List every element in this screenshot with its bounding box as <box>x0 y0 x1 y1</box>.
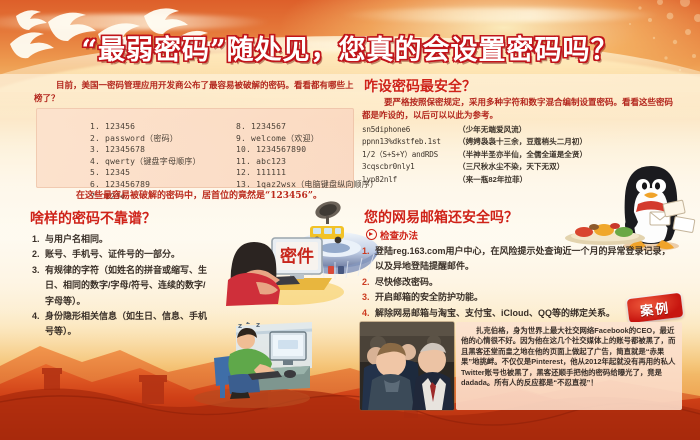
bad-password-heading: 啥样的密码不靠谱？ <box>30 208 156 228</box>
list-item: 2. 账号、手机号、证件号的一部分。 <box>32 247 208 262</box>
table-row: ppnn13%dkstfeb.1st （娉娉袅袅十三余，豆蔻梢头二月初） <box>362 136 662 148</box>
list-item-number: 3. <box>362 290 375 305</box>
weak-password-item: 11. abc123 <box>236 156 378 168</box>
list-item-number: 3. <box>32 263 45 309</box>
list-item: 2. 尽快修改密码。 <box>362 275 674 290</box>
case-study-photo <box>360 322 454 410</box>
case-study-badge-label: 案例 <box>639 297 671 320</box>
list-item-number: 1. <box>362 244 375 275</box>
example-meaning: （少年无端爱风流） <box>458 124 662 136</box>
case-study-block: 扎克伯格，身为世界上最大社交网络Facebook的CEO，最近他的心情很不好。因… <box>360 322 682 410</box>
example-password: 1/2（S+S+Y）andRDS <box>362 149 458 161</box>
example-password: ppnn13%dkstfeb.1st <box>362 136 458 148</box>
weak-password-item: 9. welcome（欢迎） <box>236 133 378 145</box>
list-item-text: 尽快修改密码。 <box>375 275 674 290</box>
woman-at-computer-illustration: 密件 <box>212 218 352 310</box>
weak-password-column-right: 8. 1234567 9. welcome（欢迎） 10. 1234567890… <box>196 121 378 191</box>
safe-password-intro: 要严格按照保密规定，采用多种字符和数字混合编制设置密码。看看这些密码都是咋设的，… <box>362 96 674 122</box>
list-item: 1. 登陆reg.163.com用户中心，在风险提示处查询近一个月的异常登录记录… <box>362 244 674 275</box>
weak-password-item: 10. 1234567890 <box>236 144 378 156</box>
svg-text:z: z <box>256 322 260 329</box>
weak-password-item: 12. 111111 <box>236 167 378 179</box>
example-password: lyp82nlf <box>362 174 458 186</box>
example-password: 3cqscbr0nly1 <box>362 161 458 173</box>
list-item-text: 与用户名相同。 <box>45 232 208 247</box>
zuckerberg-photo-illustration <box>360 322 454 410</box>
envelope-screen-label: 密件 <box>280 246 314 267</box>
play-arrow-icon <box>366 229 377 240</box>
list-item-text: 身份隐形相关信息（如生日、信息、手机号等）。 <box>45 309 208 340</box>
list-item-text: 有规律的字符（如姓名的拼音或缩写、生日、相同的数字/字母/符号、连续的数字/字母… <box>45 263 208 309</box>
list-item-text: 账号、手机号、证件号的一部分。 <box>45 247 208 262</box>
weak-password-item: 4. qwerty（键盘字母顺序） <box>90 156 201 168</box>
man-at-computer-illustration: zzz <box>186 322 318 408</box>
list-item-number: 2. <box>32 247 45 262</box>
weak-password-item: 3. 12345678 <box>90 144 201 156</box>
bad-password-list: 1. 与用户名相同。 2. 账号、手机号、证件号的一部分。 3. 有规律的字符（… <box>32 232 208 340</box>
page-title: “最弱密码”随处见，您真的会设置密码吗？ <box>0 28 700 67</box>
list-item-number: 1. <box>32 232 45 247</box>
check-method-subheading: 检查办法 <box>366 228 418 242</box>
list-item: 1. 与用户名相同。 <box>32 232 208 247</box>
example-password: sn5diphone6 <box>362 124 458 136</box>
list-item-number: 4. <box>32 309 45 340</box>
list-item-number: 2. <box>362 275 375 290</box>
svg-text:z: z <box>238 322 242 330</box>
food-platter-illustration <box>560 214 650 246</box>
list-item: 4. 身份隐形相关信息（如生日、信息、手机号等）。 <box>32 309 208 340</box>
weak-password-item: 2. password（密码） <box>90 133 201 145</box>
table-row: sn5diphone6 （少年无端爱风流） <box>362 124 662 136</box>
weak-password-item: 1. 123456 <box>90 121 201 133</box>
mailbox-heading: 您的网易邮箱还安全吗？ <box>364 207 518 227</box>
example-meaning: （娉娉袅袅十三余，豆蔻梢头二月初） <box>458 136 662 148</box>
list-item-text: 登陆reg.163.com用户中心，在风险提示处查询近一个月的异常登录记录，以及… <box>375 244 674 275</box>
weak-password-box: 1. 123456 2. password（密码） 3. 12345678 4.… <box>36 108 354 188</box>
check-method-label: 检查办法 <box>380 231 418 242</box>
weak-password-item: 8. 1234567 <box>236 121 378 133</box>
weak-password-item: 5. 12345 <box>90 167 201 179</box>
intro-paragraph: 目前，美国一密码管理应用开发商公布了最容易被破解的密码。看看都有哪些上榜了？ <box>34 79 354 105</box>
safe-password-heading: 咋设密码最安全？ <box>364 76 476 96</box>
envelopes-illustration <box>648 198 698 238</box>
poster-canvas: “最弱密码”随处见，您真的会设置密码吗？ 目前，美国一密码管理应用开发商公布了最… <box>0 0 700 440</box>
list-item-number: 4. <box>362 306 375 321</box>
svg-text:z: z <box>246 322 250 326</box>
case-study-text: 扎克伯格，身为世界上最大社交网络Facebook的CEO，最近他的心情很不好。因… <box>456 322 682 410</box>
list-item: 3. 有规律的字符（如姓名的拼音或缩写、生日、相同的数字/字母/符号、连续的数字… <box>32 263 208 309</box>
